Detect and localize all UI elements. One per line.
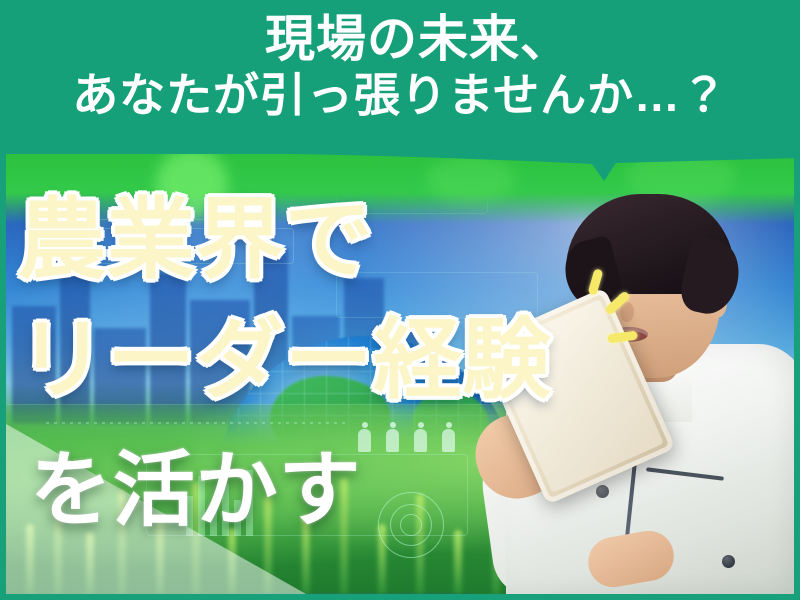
recruitment-banner-ad: 農業界で リーダー経験 を活かす 現場の未来、 あなたが引っ張りませんか…？ [0, 0, 800, 600]
hero-photo [6, 154, 794, 594]
photo-frame [0, 148, 800, 600]
banner-line-2: あなたが引っ張りませんか…？ [72, 72, 728, 118]
banner-line-1: 現場の未来、 [265, 14, 571, 64]
speech-banner-text: 現場の未来、 あなたが引っ張りませんか…？ [0, 0, 800, 160]
